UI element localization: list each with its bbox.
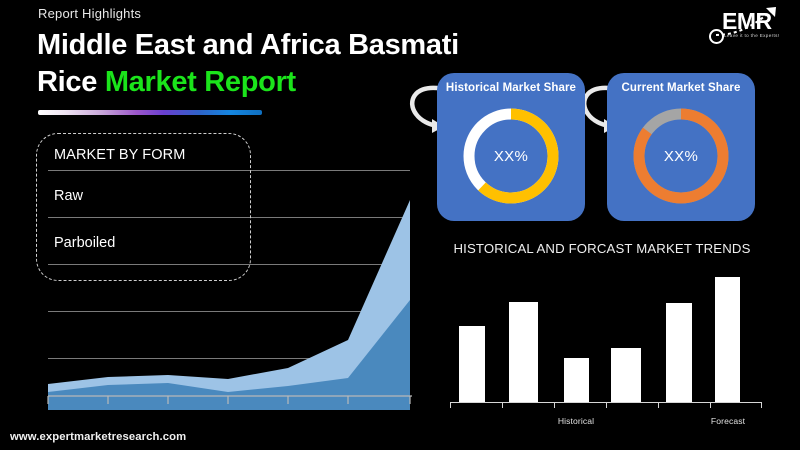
eyebrow-label: Report Highlights (38, 6, 141, 21)
bar-chart: Historical Forecast (440, 268, 770, 428)
title-underline-gradient (38, 110, 262, 115)
current-market-share-title: Current Market Share (607, 82, 755, 94)
bar-label-historical: Historical (558, 416, 594, 426)
bar-2 (509, 302, 538, 402)
bar-axis-tick (554, 402, 555, 408)
market-by-form-heading: MARKET BY FORM (54, 147, 185, 163)
trends-title: HISTORICAL AND FORCAST MARKET TRENDS (447, 241, 757, 256)
bar-1 (459, 326, 485, 402)
footer-url[interactable]: www.expertmarketresearch.com (10, 431, 186, 443)
market-by-form-item-parboiled: Parboiled (54, 235, 115, 251)
title-line-1: Middle East and Africa Basmati (37, 29, 459, 61)
bar-label-forecast: Forecast (711, 416, 745, 426)
bar-axis-tick (502, 402, 503, 408)
market-by-form-card: MARKET BY FORM Raw Parboiled (36, 133, 251, 281)
bar-axis-tick (658, 402, 659, 408)
current-market-share-value: XX% (629, 104, 733, 208)
market-by-form-item-raw: Raw (54, 188, 83, 204)
emr-logo: EMR Leave it to the Experts! (700, 4, 792, 48)
historical-market-share-title: Historical Market Share (437, 82, 585, 94)
logo-tagline: Leave it to the Experts! (724, 33, 779, 38)
slide-canvas: Report Highlights Middle East and Africa… (0, 0, 800, 450)
bar-axis-tick (710, 402, 711, 408)
bar-3 (564, 358, 589, 402)
bar-axis-tick (606, 402, 607, 408)
bar-5 (666, 303, 692, 402)
bar-axis-tick (450, 402, 451, 408)
historical-market-share-card[interactable]: Historical Market Share XX% (437, 73, 585, 221)
historical-market-share-value: XX% (459, 104, 563, 208)
current-market-share-donut: XX% (629, 104, 733, 208)
logo-wordmark: EMR (722, 10, 772, 33)
title-line-2-plain: Rice (37, 66, 105, 98)
bar-4 (611, 348, 641, 402)
current-market-share-card[interactable]: Current Market Share XX% (607, 73, 755, 221)
title-line-2-accent: Market Report (105, 66, 296, 98)
historical-market-share-donut: XX% (459, 104, 563, 208)
bar-6 (715, 277, 740, 402)
bar-axis-tick (761, 402, 762, 408)
